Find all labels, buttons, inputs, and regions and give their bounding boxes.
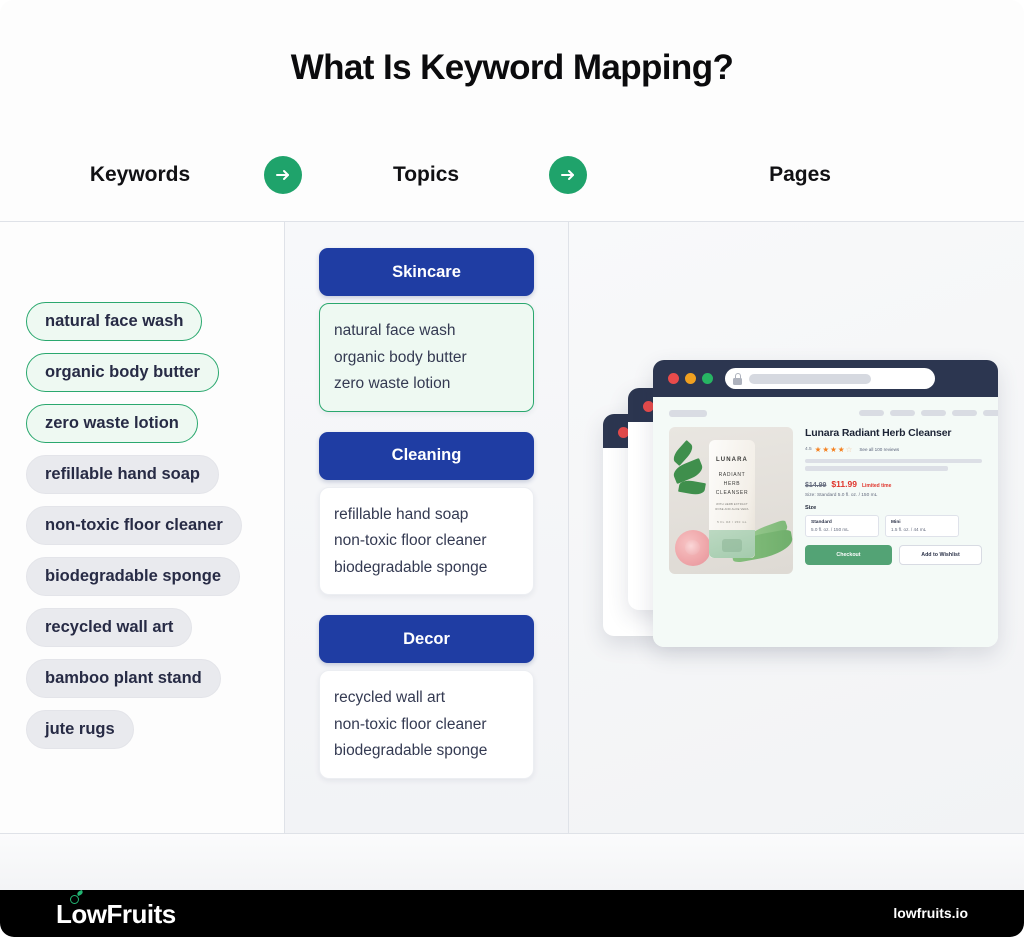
tube-volume: 5 FL OZ / 150 mL <box>709 520 755 524</box>
star-filled-icon: ★ <box>822 446 829 454</box>
nav-link-placeholder[interactable] <box>952 410 977 416</box>
topic-group: Cleaningrefillable hand soapnon-toxic fl… <box>319 432 534 596</box>
arrow-right-icon <box>549 156 587 194</box>
nav-link-placeholder[interactable] <box>983 410 998 416</box>
star-empty-icon: ☆ <box>846 446 853 454</box>
nav-link-placeholder[interactable] <box>890 410 915 416</box>
topic-keyword[interactable]: recycled wall art <box>334 685 519 712</box>
url-bar[interactable] <box>725 368 935 389</box>
star-filled-icon: ★ <box>838 446 845 454</box>
topics-column: Skincarenatural face washorganic body bu… <box>285 222 568 833</box>
price-row: $14.99 $11.99 Limited time <box>805 479 982 489</box>
footer: LowFruits lowfruits.io <box>0 890 1024 937</box>
maximize-dot-icon[interactable] <box>702 373 713 384</box>
leaf-icon <box>678 479 706 496</box>
keyword-pill[interactable]: zero waste lotion <box>26 404 198 443</box>
product-image: LUNARA RADIANT HERB CLEANSER WITH HERB E… <box>669 427 793 574</box>
topic-keyword-panel: natural face washorganic body butterzero… <box>319 303 534 412</box>
arrow-right-icon <box>264 156 302 194</box>
site-nav <box>653 407 998 419</box>
size-option[interactable]: Standard5.0 fl. oz. / 150 mL <box>805 515 879 537</box>
keyword-pill[interactable]: organic body butter <box>26 353 219 392</box>
leaf-icon <box>76 890 83 896</box>
keyword-pill[interactable]: non-toxic floor cleaner <box>26 506 242 545</box>
rating-row: 4.5 ★★★★☆ See all 100 reviews <box>805 446 982 454</box>
topic-group: Decorrecycled wall artnon-toxic floor cl… <box>319 615 534 779</box>
fruit-icon <box>70 895 79 904</box>
minimize-dot-icon[interactable] <box>685 373 696 384</box>
browser-window-front: LUNARA RADIANT HERB CLEANSER WITH HERB E… <box>653 360 998 647</box>
product-detail: LUNARA RADIANT HERB CLEANSER WITH HERB E… <box>669 427 982 627</box>
keyword-pill[interactable]: jute rugs <box>26 710 134 749</box>
keyword-pill[interactable]: bamboo plant stand <box>26 659 221 698</box>
limited-time-badge: Limited time <box>862 483 891 489</box>
price-sale: $11.99 <box>831 479 857 489</box>
browser-titlebar <box>653 360 998 397</box>
lowfruits-logo: LowFruits <box>56 899 176 930</box>
pages-column: LUNARA RADIANT HERB CLEANSER WITH HERB E… <box>569 222 1024 833</box>
selected-size-summary: Size: Standard 5.0 fl. oz. / 150 mL <box>805 493 982 498</box>
topic-keyword[interactable]: natural face wash <box>334 318 519 345</box>
column-divider <box>284 222 285 833</box>
size-option-name: Standard <box>811 520 873 525</box>
topic-keyword[interactable]: zero waste lotion <box>334 371 519 398</box>
topic-header[interactable]: Decor <box>319 615 534 663</box>
rose-flower <box>675 530 711 566</box>
size-option-detail: 5.0 fl. oz. / 150 mL <box>811 527 873 532</box>
tube-brand: LUNARA <box>709 457 755 463</box>
tube-subtitle-2: ROSE AND ALOE VERA <box>709 508 755 511</box>
keyword-pill[interactable]: biodegradable sponge <box>26 557 240 596</box>
topic-keyword[interactable]: non-toxic floor cleaner <box>334 712 519 739</box>
size-option-detail: 1.5 fl. oz. / 44 mL <box>891 527 953 532</box>
nav-link-placeholder[interactable] <box>921 410 946 416</box>
stage-row: Keywords Topics Pages <box>0 152 1024 198</box>
topic-keyword[interactable]: biodegradable sponge <box>334 555 519 582</box>
keywords-column: natural face washorganic body butterzero… <box>0 222 284 833</box>
nav-link-placeholder[interactable] <box>859 410 884 416</box>
keyword-pill[interactable]: refillable hand soap <box>26 455 219 494</box>
size-option-name: Mini <box>891 520 953 525</box>
star-filled-icon: ★ <box>830 446 837 454</box>
column-divider <box>568 222 569 833</box>
url-placeholder <box>749 374 871 384</box>
page-title: What Is Keyword Mapping? <box>0 48 1024 88</box>
size-label: Size <box>805 505 982 511</box>
keyword-pill[interactable]: natural face wash <box>26 302 202 341</box>
columns-region: natural face washorganic body butterzero… <box>0 222 1024 833</box>
star-filled-icon: ★ <box>815 446 822 454</box>
stage-label-keywords: Keywords <box>20 152 260 198</box>
stage-label-pages: Pages <box>660 152 940 198</box>
size-option-list: Standard5.0 fl. oz. / 150 mLMini1.5 fl. … <box>805 515 982 537</box>
topic-group-list: Skincarenatural face washorganic body bu… <box>319 248 534 799</box>
header: What Is Keyword Mapping? Keywords Topics… <box>0 0 1024 222</box>
topic-keyword[interactable]: biodegradable sponge <box>334 738 519 765</box>
infographic-page: What Is Keyword Mapping? Keywords Topics… <box>0 0 1024 937</box>
topic-header[interactable]: Cleaning <box>319 432 534 480</box>
topic-group: Skincarenatural face washorganic body bu… <box>319 248 534 412</box>
price-original: $14.99 <box>805 482 826 489</box>
rating-value: 4.5 <box>805 447 812 452</box>
keyword-pill[interactable]: recycled wall art <box>26 608 192 647</box>
tube-subtitle-1: WITH HERB EXTRACT <box>709 503 755 506</box>
cta-row: Checkout Add to Wishlist <box>805 545 982 565</box>
description-placeholder-line <box>805 466 948 471</box>
site-logo-placeholder <box>669 410 707 417</box>
stage-label-topics: Topics <box>306 152 546 198</box>
tube-line-3: CLEANSER <box>709 490 755 496</box>
topic-keyword[interactable]: non-toxic floor cleaner <box>334 528 519 555</box>
footer-url: lowfruits.io <box>893 905 968 921</box>
topic-keyword[interactable]: refillable hand soap <box>334 502 519 529</box>
browser-content: LUNARA RADIANT HERB CLEANSER WITH HERB E… <box>653 397 998 647</box>
logo-letter-w: w <box>87 899 107 930</box>
product-tube: LUNARA RADIANT HERB CLEANSER WITH HERB E… <box>709 440 755 558</box>
topic-keyword-panel: refillable hand soapnon-toxic floor clea… <box>319 487 534 596</box>
checkout-button[interactable]: Checkout <box>805 545 892 565</box>
description-placeholder-line <box>805 459 982 464</box>
rating-stars: ★★★★☆ <box>815 446 853 454</box>
lock-icon <box>732 373 743 385</box>
review-count-link[interactable]: See all 100 reviews <box>859 447 899 452</box>
logo-text-rest: Fruits <box>107 899 176 930</box>
logo-letter-l: L <box>56 899 71 930</box>
keyword-pill-list: natural face washorganic body butterzero… <box>26 302 242 761</box>
size-option[interactable]: Mini1.5 fl. oz. / 44 mL <box>885 515 959 537</box>
topic-keyword-panel: recycled wall artnon-toxic floor cleaner… <box>319 670 534 779</box>
close-dot-icon[interactable] <box>668 373 679 384</box>
tube-line-1: RADIANT <box>709 472 755 478</box>
topic-keyword[interactable]: organic body butter <box>334 345 519 372</box>
add-to-wishlist-button[interactable]: Add to Wishlist <box>899 545 982 565</box>
footer-spacer <box>0 834 1024 890</box>
tube-cap <box>709 530 755 558</box>
browser-mockup: LUNARA RADIANT HERB CLEANSER WITH HERB E… <box>569 222 1024 833</box>
product-info: Lunara Radiant Herb Cleanser 4.5 ★★★★☆ S… <box>805 427 982 565</box>
tube-line-2: HERB <box>709 481 755 487</box>
product-title: Lunara Radiant Herb Cleanser <box>805 427 982 439</box>
topic-header[interactable]: Skincare <box>319 248 534 296</box>
